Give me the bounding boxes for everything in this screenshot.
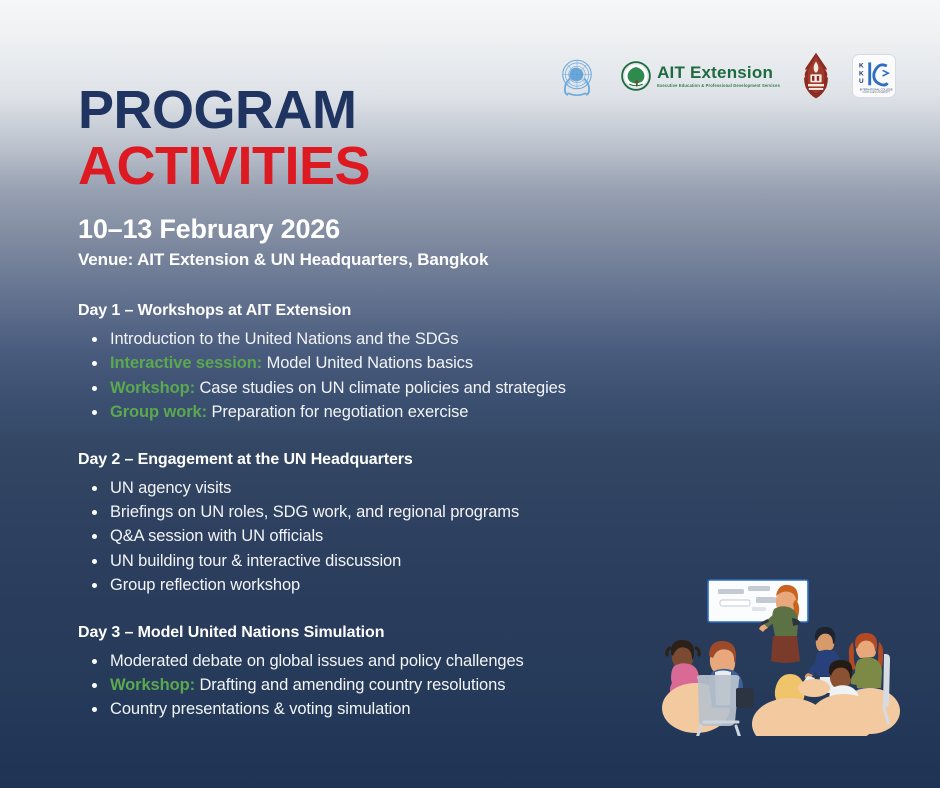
program-activities-poster: AIT Extension Executive Education & Prof… (0, 0, 940, 788)
list-item: Workshop: Drafting and amending country … (78, 673, 698, 697)
list-item-text: Case studies on UN climate policies and … (199, 379, 565, 397)
united-nations-emblem-icon (553, 52, 601, 100)
list-item: Country presentations & voting simulatio… (78, 697, 698, 721)
day-items: Introduction to the United Nations and t… (78, 327, 698, 425)
page-title-line-1: PROGRAM (78, 84, 488, 137)
list-item-text: Moderated debate on global issues and po… (110, 652, 524, 670)
list-item: Group work: Preparation for negotiation … (78, 400, 698, 424)
day-heading: Day 1 – Workshops at AIT Extension (78, 302, 698, 320)
headline-block: PROGRAM ACTIVITIES 10–13 February 2026 V… (78, 84, 488, 270)
agenda-list: Day 1 – Workshops at AIT Extension Intro… (78, 302, 698, 722)
list-item: Group reflection workshop (78, 573, 698, 597)
list-item-text: UN agency visits (110, 479, 231, 497)
list-item-tag: Workshop: (110, 379, 195, 397)
day-heading: Day 3 – Model United Nations Simulation (78, 624, 698, 642)
list-item-text: Model United Nations basics (267, 354, 473, 372)
event-venue: Venue: AIT Extension & UN Headquarters, … (78, 250, 488, 270)
list-item-text: Group reflection workshop (110, 576, 300, 594)
list-item-tag: Workshop: (110, 676, 195, 694)
list-item-text: Briefings on UN roles, SDG work, and reg… (110, 503, 519, 521)
list-item: Q&A session with UN officials (78, 524, 698, 548)
day-block: Day 3 – Model United Nations Simulation … (78, 624, 698, 722)
workshop-presentation-illustration (652, 576, 902, 736)
thai-royal-garuda-emblem-icon (800, 52, 832, 100)
svg-text:INTERNATIONAL COLLEGE: INTERNATIONAL COLLEGE (860, 87, 893, 91)
day-block: Day 2 – Engagement at the UN Headquarter… (78, 451, 698, 598)
kku-ic-emblem-icon: K K U INTERNATIONAL COLLEGE KHON KAEN UN… (854, 56, 894, 96)
list-item-text: Drafting and amending country resolution… (199, 676, 505, 694)
list-item: UN agency visits (78, 476, 698, 500)
list-item-text: Introduction to the United Nations and t… (110, 330, 458, 348)
un-logo (553, 52, 601, 100)
svg-text:K: K (859, 70, 864, 77)
list-item: Workshop: Case studies on UN climate pol… (78, 376, 698, 400)
ait-extension-logo: AIT Extension Executive Education & Prof… (621, 61, 780, 91)
list-item: Briefings on UN roles, SDG work, and reg… (78, 500, 698, 524)
list-item: UN building tour & interactive discussio… (78, 549, 698, 573)
day-items: UN agency visits Briefings on UN roles, … (78, 476, 698, 598)
day-block: Day 1 – Workshops at AIT Extension Intro… (78, 302, 698, 425)
list-item-tag: Group work: (110, 403, 207, 421)
list-item-text: UN building tour & interactive discussio… (110, 552, 401, 570)
logo-bar: AIT Extension Executive Education & Prof… (553, 52, 896, 100)
list-item: Moderated debate on global issues and po… (78, 649, 698, 673)
event-date: 10–13 February 2026 (78, 215, 488, 245)
page-title-line-2: ACTIVITIES (78, 139, 488, 193)
ait-extension-tree-emblem-icon (621, 61, 651, 91)
day-items: Moderated debate on global issues and po… (78, 649, 698, 722)
ait-extension-text: AIT Extension Executive Education & Prof… (657, 64, 780, 89)
thai-government-logo (800, 52, 832, 100)
svg-text:K: K (859, 62, 864, 69)
workshop-scene-icon (652, 576, 902, 736)
list-item: Interactive session: Model United Nation… (78, 351, 698, 375)
list-item-tag: Interactive session: (110, 354, 262, 372)
list-item-text: Q&A session with UN officials (110, 527, 323, 545)
list-item-text: Preparation for negotiation exercise (211, 403, 468, 421)
svg-text:U: U (859, 78, 864, 85)
svg-text:KHON KAEN UNIVERSITY: KHON KAEN UNIVERSITY (863, 91, 891, 94)
list-item: Introduction to the United Nations and t… (78, 327, 698, 351)
day-heading: Day 2 – Engagement at the UN Headquarter… (78, 451, 698, 469)
kku-international-college-logo: K K U INTERNATIONAL COLLEGE KHON KAEN UN… (852, 54, 896, 98)
ait-extension-tagline: Executive Education & Professional Devel… (657, 83, 780, 88)
list-item-text: Country presentations & voting simulatio… (110, 700, 410, 718)
ait-extension-name: AIT Extension (657, 64, 780, 82)
